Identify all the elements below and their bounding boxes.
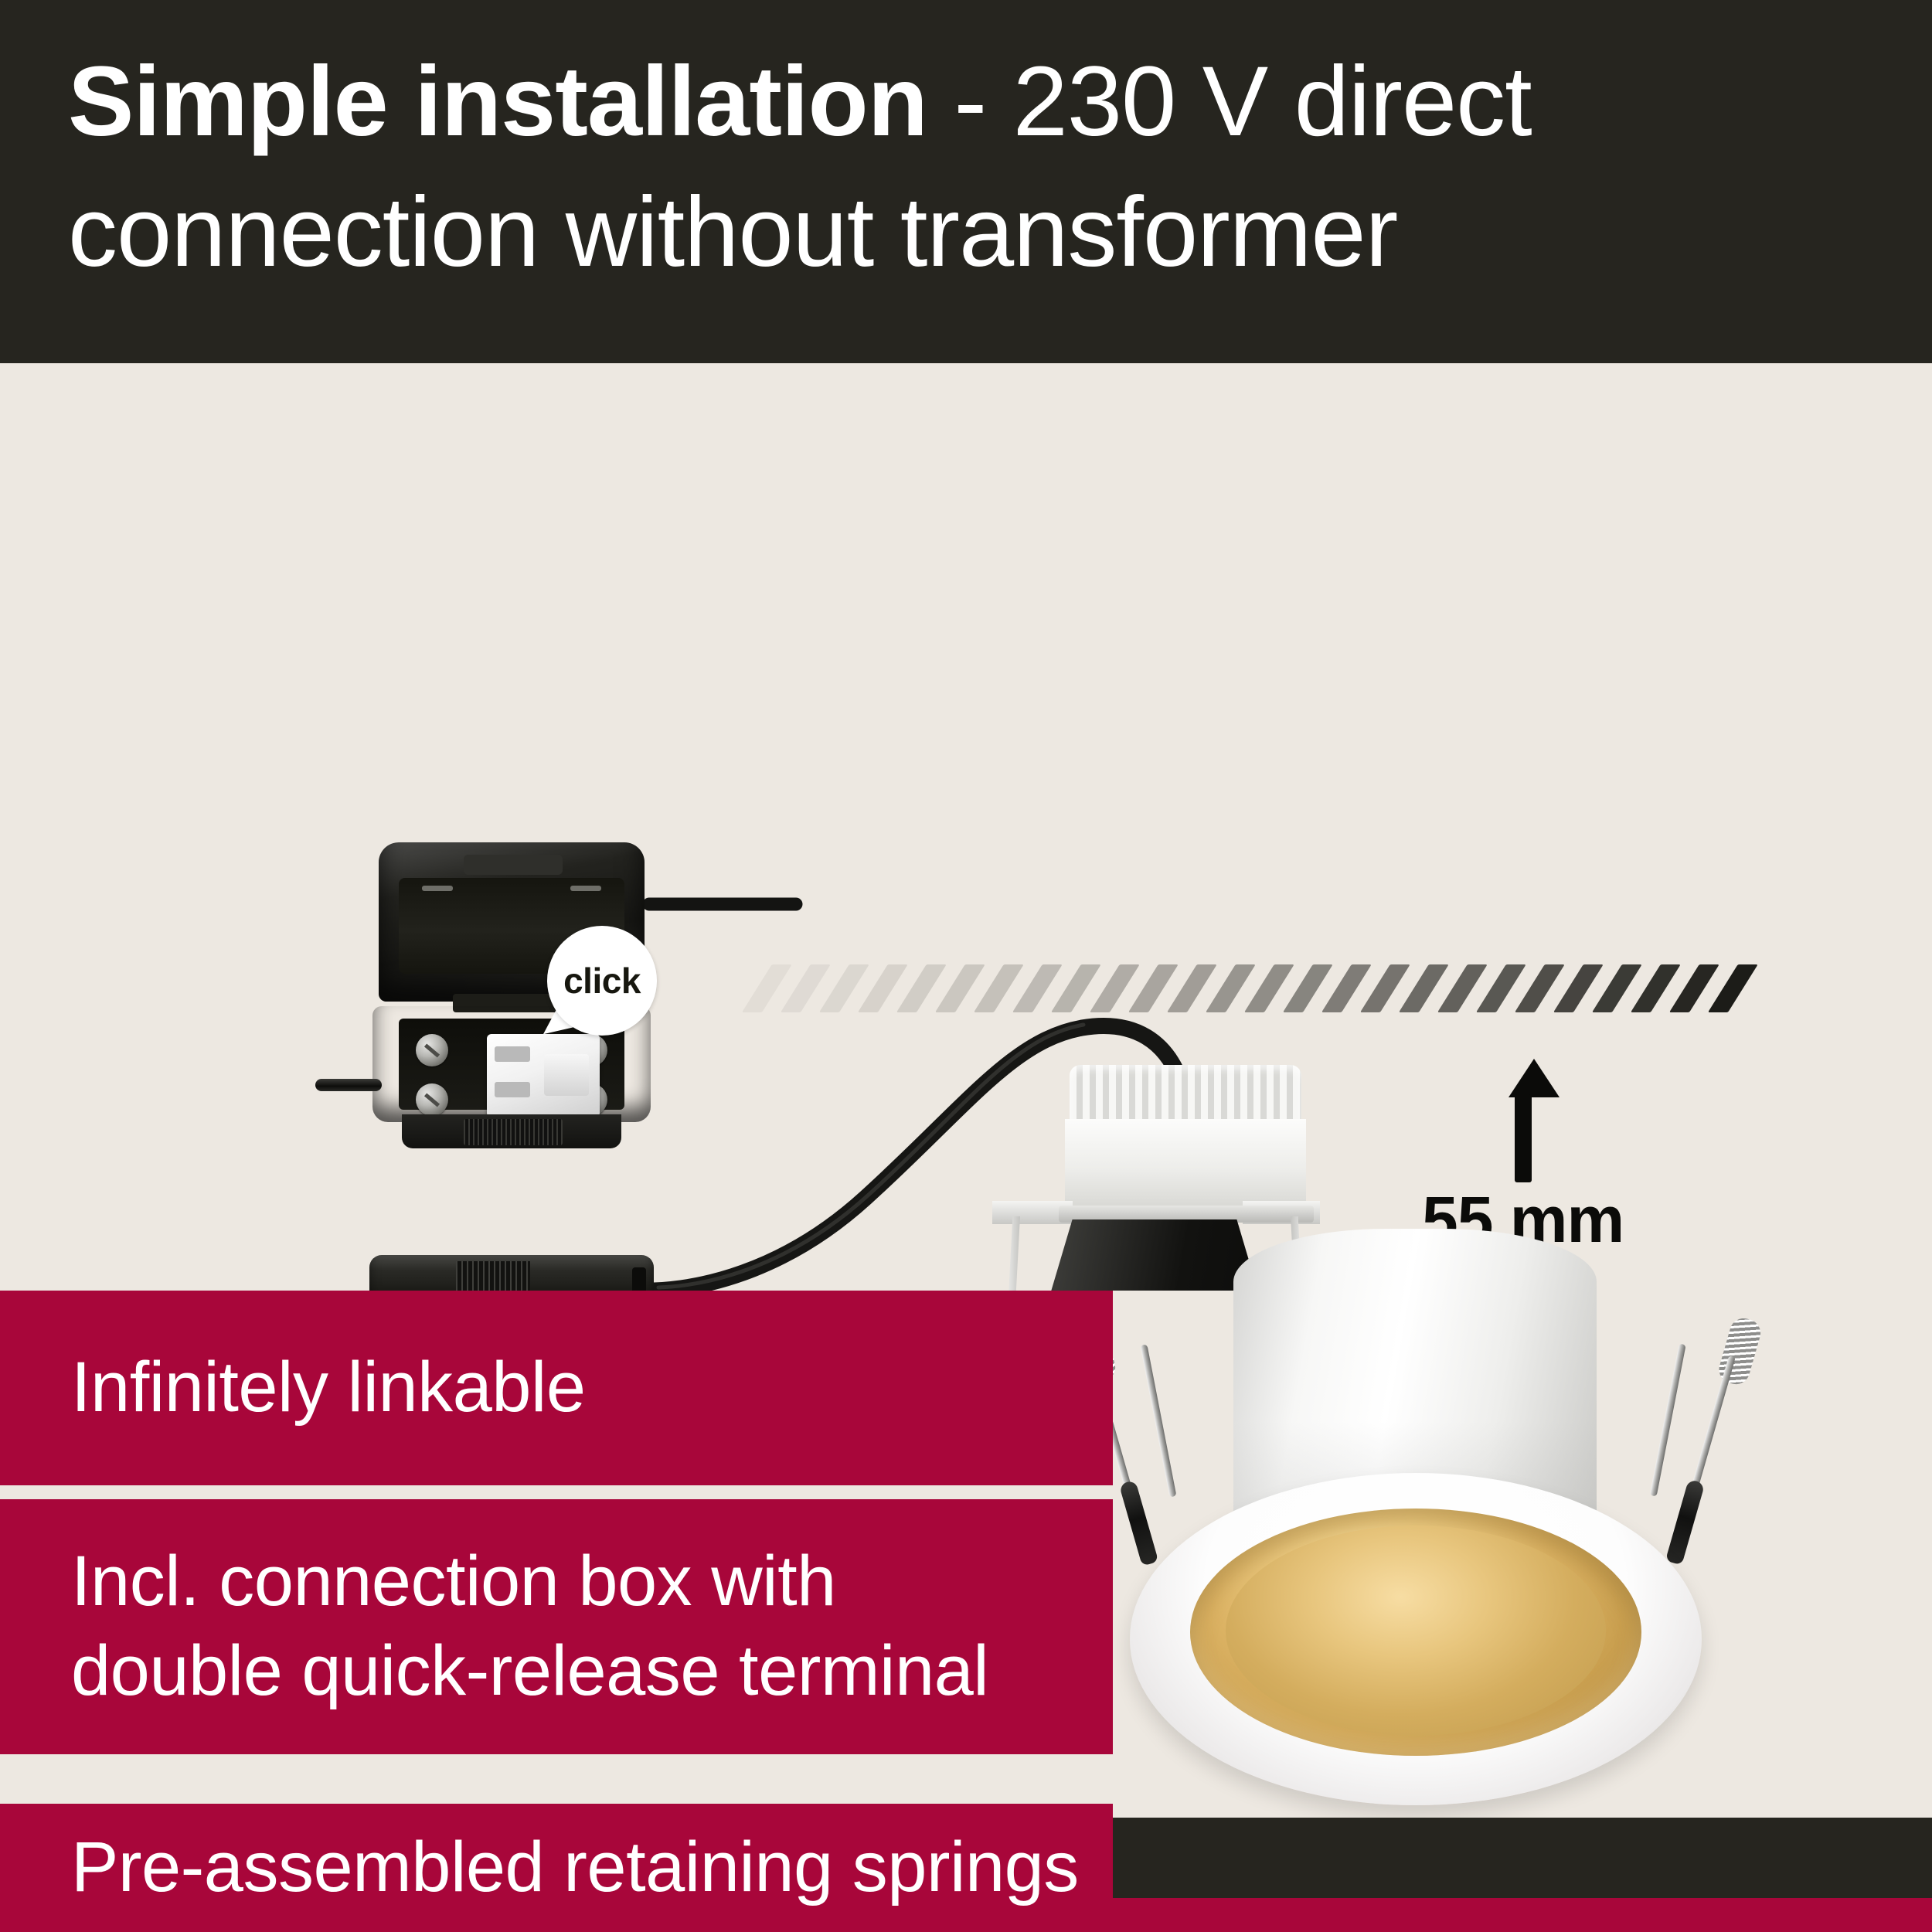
- footer-dark-block: [1113, 1818, 1932, 1898]
- feature-label-2: Incl. connection box with double quick-r…: [0, 1537, 988, 1716]
- lid-notch-right: [570, 886, 601, 891]
- product-infographic: Simple installation - 230 V direct conne…: [0, 0, 1932, 1932]
- terminal-lever: [544, 1054, 589, 1096]
- spring-tip-left: [1119, 1480, 1158, 1566]
- page-title: Simple installation - 230 V direct conne…: [68, 37, 1845, 298]
- ceiling-hatching-icon: [742, 964, 1747, 1012]
- spring-wire-right-b: [1650, 1343, 1686, 1496]
- arrow-head-up: [1509, 1059, 1560, 1097]
- click-bubble-label: click: [563, 960, 641, 1002]
- spring-wire-left-b: [1140, 1344, 1176, 1497]
- gold-reflector-inner: [1226, 1526, 1606, 1736]
- feature-banner-1: Infinitely linkable: [0, 1291, 1113, 1485]
- terminal-slot-n: [495, 1046, 530, 1062]
- installation-diagram: click 55 mm: [0, 363, 1932, 1291]
- closed-connection-box: [369, 1255, 654, 1291]
- connection-box-ribs: [464, 1119, 563, 1145]
- spring-tip-right: [1665, 1479, 1705, 1566]
- hatch-tick: [1708, 964, 1758, 1012]
- relief-box-cable-port: [632, 1267, 646, 1291]
- click-bubble: click: [547, 926, 657, 1036]
- lid-notch-left: [422, 886, 453, 891]
- terminal-slot-l: [495, 1082, 530, 1097]
- product-photo: [1074, 1229, 1754, 1839]
- footer-red-block: [1113, 1898, 1932, 1932]
- lid-tab: [464, 855, 563, 875]
- page-title-bold: Simple installation: [68, 46, 927, 157]
- arrow-shaft-up: [1515, 1094, 1532, 1182]
- quick-release-terminal: [487, 1034, 600, 1117]
- feature-banner-2: Incl. connection box with double quick-r…: [0, 1499, 1113, 1754]
- mains-cable-stub: [315, 1079, 382, 1091]
- led-module-body: [1065, 1119, 1306, 1210]
- led-module-ribbed-top: [1070, 1065, 1301, 1124]
- feature-label-1: Infinitely linkable: [0, 1343, 586, 1433]
- relief-box-ribs: [456, 1261, 530, 1291]
- dimension-arrow-up-icon: [1509, 1059, 1527, 1182]
- feature-label-3: Pre-assembled retaining springs: [0, 1823, 1079, 1913]
- header-banner: Simple installation - 230 V direct conne…: [0, 0, 1932, 363]
- downlight-bracket-left: [1002, 1216, 1020, 1291]
- terminal-screw-bottom-left: [416, 1083, 448, 1116]
- feature-banner-3: Pre-assembled retaining springs: [0, 1804, 1113, 1932]
- terminal-screw-top-left: [416, 1034, 448, 1066]
